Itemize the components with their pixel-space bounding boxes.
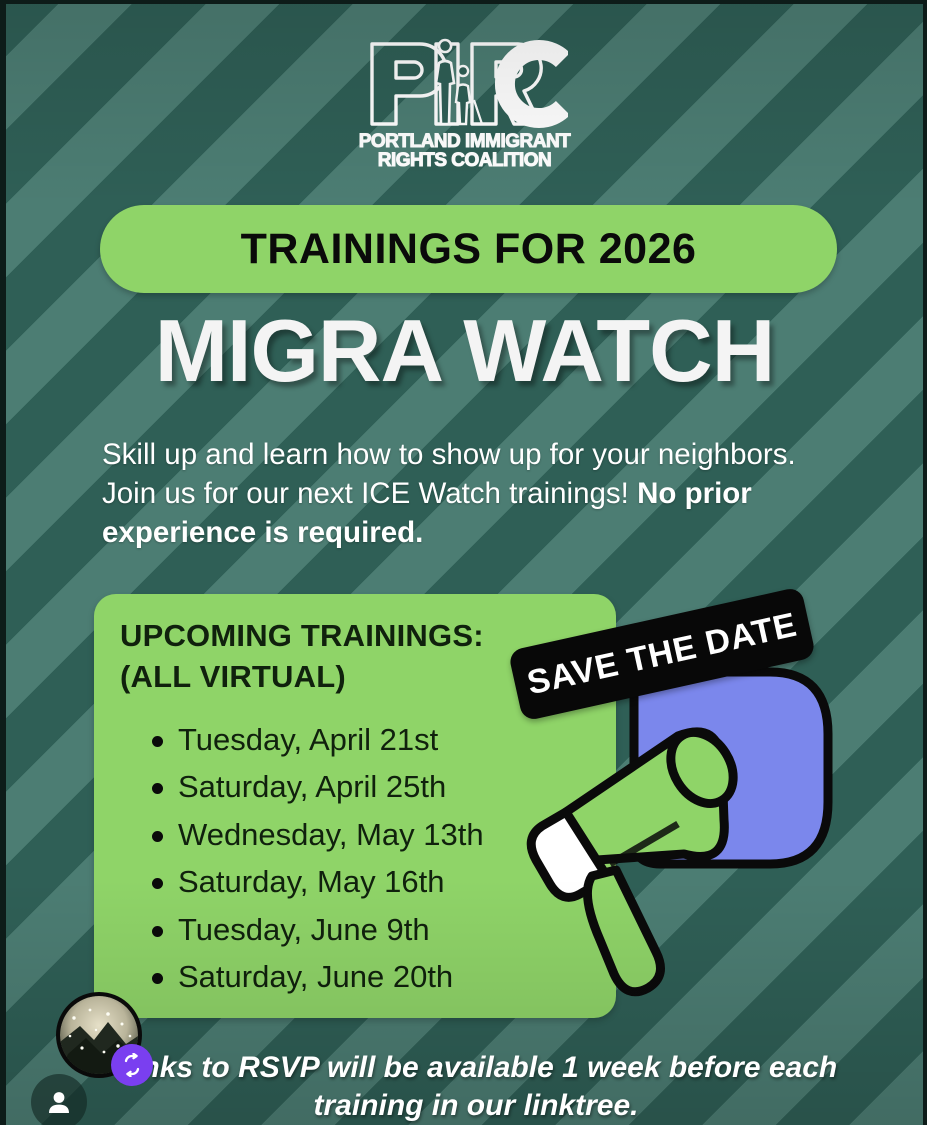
page-title: MIGRA WATCH xyxy=(6,307,923,395)
pirc-logo: PORTLAND IMMIGRANT RIGHTS COALITION xyxy=(6,38,923,170)
user-icon xyxy=(45,1088,73,1116)
rsvp-footnote: Links to RSVP will be available 1 week b… xyxy=(86,1049,866,1125)
intro-line-1: Skill up and learn how to show up for yo… xyxy=(102,438,796,471)
trainings-year-banner: TRAININGS FOR 2026 xyxy=(100,205,837,293)
trainings-year-label: TRAININGS FOR 2026 xyxy=(241,225,697,274)
repost-icon xyxy=(120,1053,144,1077)
logo-name-line-2: RIGHTS COALITION xyxy=(378,151,552,170)
logo-name-line-1: PORTLAND IMMIGRANT xyxy=(359,132,571,151)
poster-canvas: PORTLAND IMMIGRANT RIGHTS COALITION TRAI… xyxy=(0,0,927,1125)
repost-badge[interactable] xyxy=(111,1044,153,1086)
rsvp-footnote-line-1: Links to RSVP will be available 1 week b… xyxy=(115,1051,838,1084)
rsvp-footnote-line-2: training in our linktree. xyxy=(313,1089,638,1122)
megaphone-icon xyxy=(506,664,927,1009)
intro-paragraph: Skill up and learn how to show up for yo… xyxy=(102,436,854,553)
user-chip[interactable] xyxy=(31,1074,87,1125)
pirc-logo-icon xyxy=(362,38,568,130)
pirc-logo-wordmark: PORTLAND IMMIGRANT RIGHTS COALITION xyxy=(359,132,571,170)
intro-line-2: Join us for our next ICE Watch trainings… xyxy=(102,477,629,510)
